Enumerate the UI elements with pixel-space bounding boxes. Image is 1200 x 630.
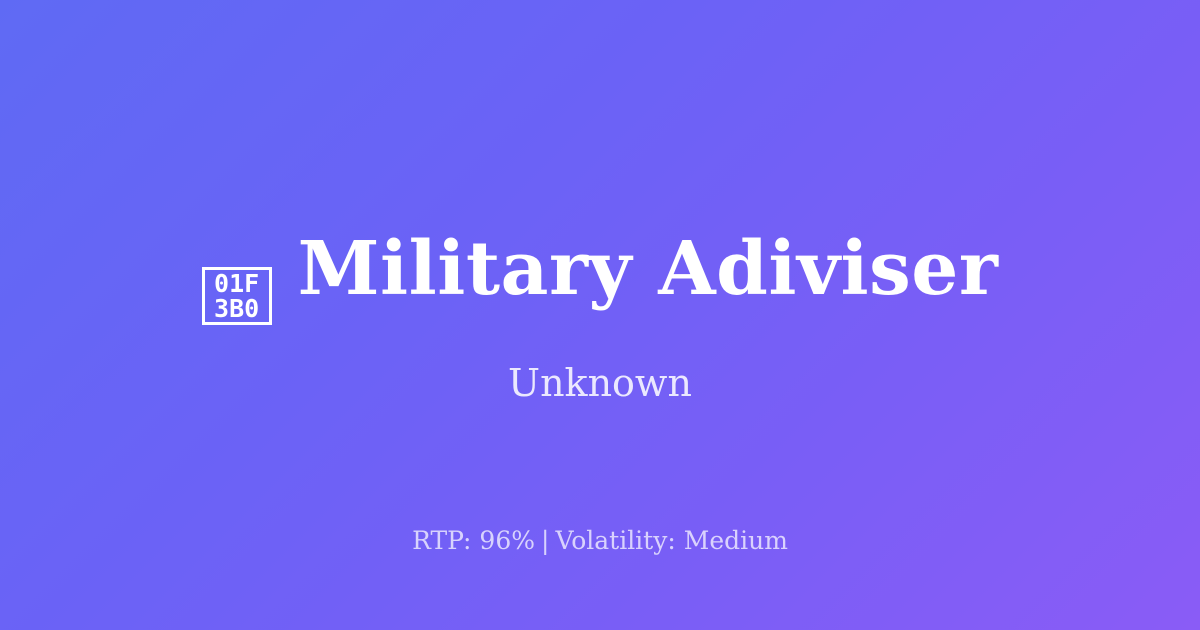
- page-title: Military Adiviser: [298, 232, 999, 306]
- tofu-codepoint-line-1: 01F: [214, 271, 259, 296]
- meta-line: RTP: 96%|Volatility: Medium: [0, 528, 1200, 553]
- meta-separator: |: [535, 526, 555, 555]
- title-row: 01F 3B0 Military Adiviser: [0, 232, 1200, 327]
- page-subtitle: Unknown: [0, 364, 1200, 402]
- tofu-codepoint-line-2: 3B0: [214, 296, 259, 321]
- slot-machine-emoji-icon: 01F 3B0: [202, 267, 272, 325]
- rtp-value: RTP: 96%: [412, 526, 535, 555]
- og-share-card: 01F 3B0 Military Adiviser Unknown RTP: 9…: [0, 0, 1200, 630]
- volatility-value: Volatility: Medium: [555, 526, 787, 555]
